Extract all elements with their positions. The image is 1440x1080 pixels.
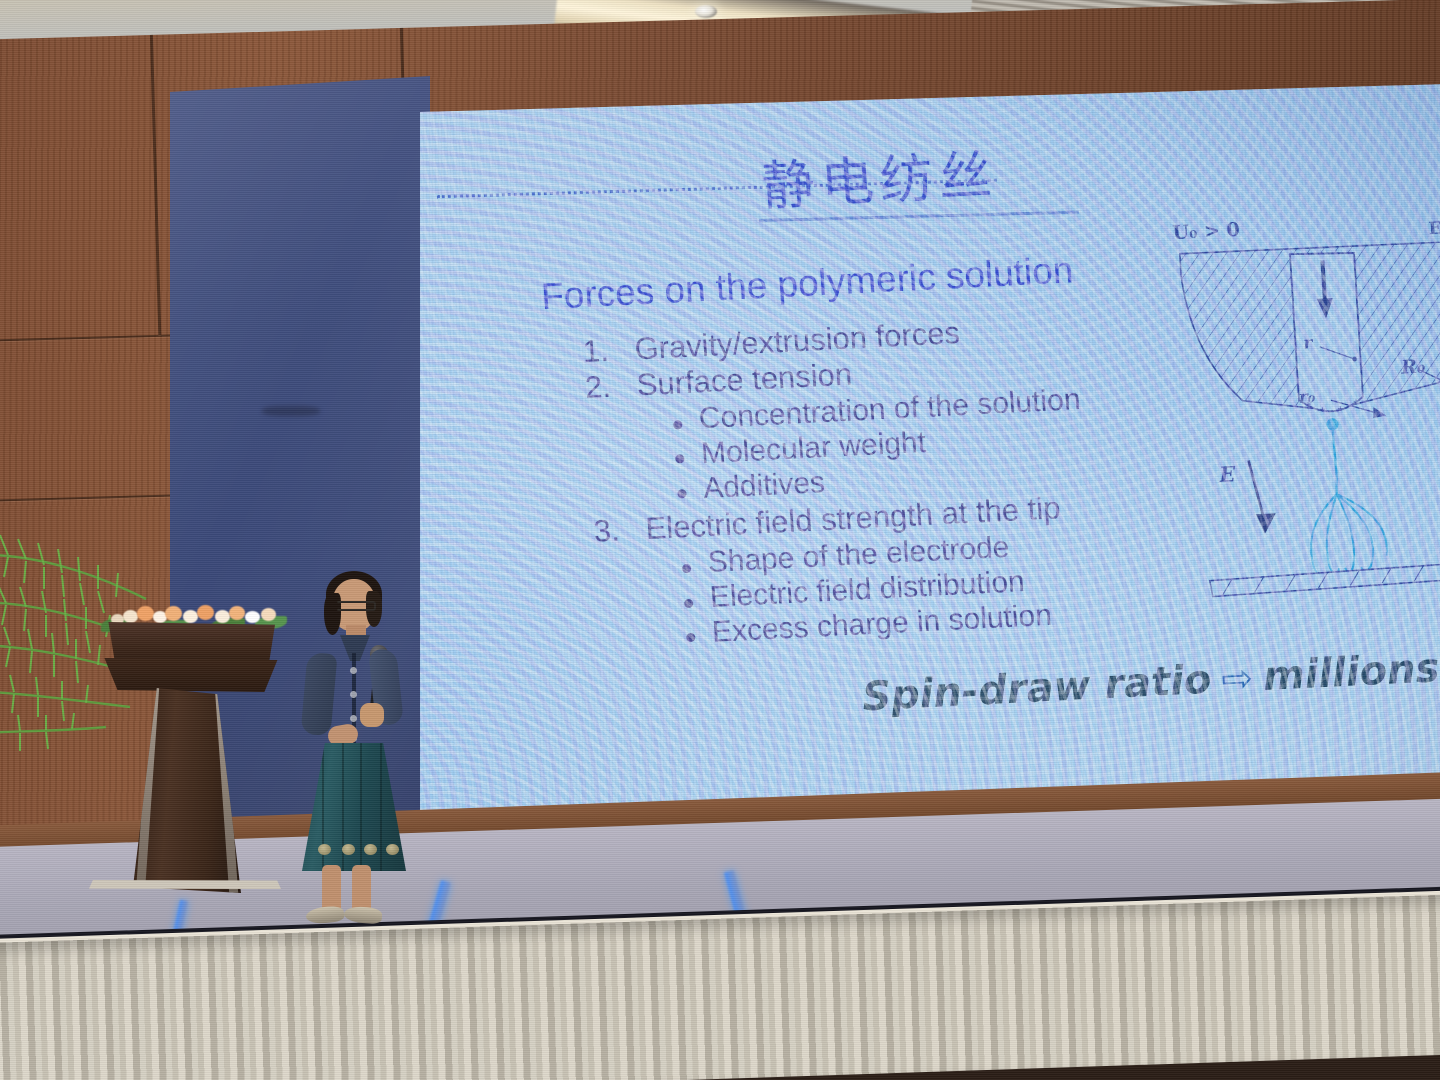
left-shoe <box>305 905 344 925</box>
presenter <box>288 575 413 935</box>
list-item: 2. Surface tension Concentration of the … <box>578 345 1086 512</box>
svg-text:+: + <box>1353 397 1360 408</box>
right-leg <box>352 865 371 913</box>
slide-heading: Forces on the polymeric solution <box>540 249 1075 318</box>
diagram-label-r0: r₀ <box>1298 387 1316 408</box>
callout-trail: millions <box>1262 645 1440 700</box>
lectern-desk <box>97 658 283 692</box>
embroidery-flower <box>342 844 355 855</box>
list-number: 3. <box>587 513 621 551</box>
svg-text:+: + <box>1337 404 1344 415</box>
diagram-label-voltage: U₀ > 0 <box>1172 219 1241 244</box>
spin-draw-ratio-callout: Spin-draw ratio⇨millions <box>861 645 1440 720</box>
wall-smudge <box>262 406 320 416</box>
button <box>350 691 357 698</box>
sub-list: Concentration of the solution Molecular … <box>672 383 1086 508</box>
skirt <box>302 743 406 871</box>
embroidery-flower <box>364 844 377 855</box>
diagram-label-r: r <box>1303 333 1313 353</box>
right-hand <box>360 703 384 727</box>
diagram-label-electrode: Electrode <box>1428 215 1440 240</box>
sub-list: Shape of the electrode Electric field di… <box>681 527 1095 652</box>
led-presentation-screen[interactable]: 静电纺丝 Forces on the polymeric solution 1.… <box>420 84 1440 874</box>
lectern-base <box>87 882 283 916</box>
diagram-label-R0: R₀ <box>1400 356 1425 379</box>
button <box>350 667 357 674</box>
slide-content: 静电纺丝 Forces on the polymeric solution 1.… <box>420 84 1440 873</box>
eyeglasses <box>336 601 376 611</box>
hair-side <box>324 593 341 635</box>
lectern-column <box>133 688 241 893</box>
slide-title: 静电纺丝 <box>759 133 999 221</box>
svg-text:+: + <box>1319 405 1326 416</box>
right-shoe <box>343 906 382 925</box>
conference-photo-scene: 静电纺丝 Forces on the polymeric solution 1.… <box>0 0 1440 1080</box>
right-arrow-icon: ⇨ <box>1210 655 1264 702</box>
lectern <box>75 600 285 930</box>
diagram-label-E: E <box>1219 461 1237 487</box>
list-number: 2. <box>578 369 612 407</box>
callout-lead: Spin-draw ratio <box>861 657 1213 721</box>
forces-list: 1. Gravity/extrusion forces 2. Surface t… <box>576 309 1095 658</box>
electrospinning-diagram: + + + + <box>1171 220 1440 606</box>
list-number: 1. <box>576 333 610 371</box>
button <box>350 715 357 722</box>
embroidery-flower <box>386 844 399 855</box>
embroidery-flower <box>318 844 331 855</box>
ceiling-spotlight <box>695 5 717 18</box>
list-item: 3. Electric field strength at the tip Sh… <box>587 489 1095 656</box>
